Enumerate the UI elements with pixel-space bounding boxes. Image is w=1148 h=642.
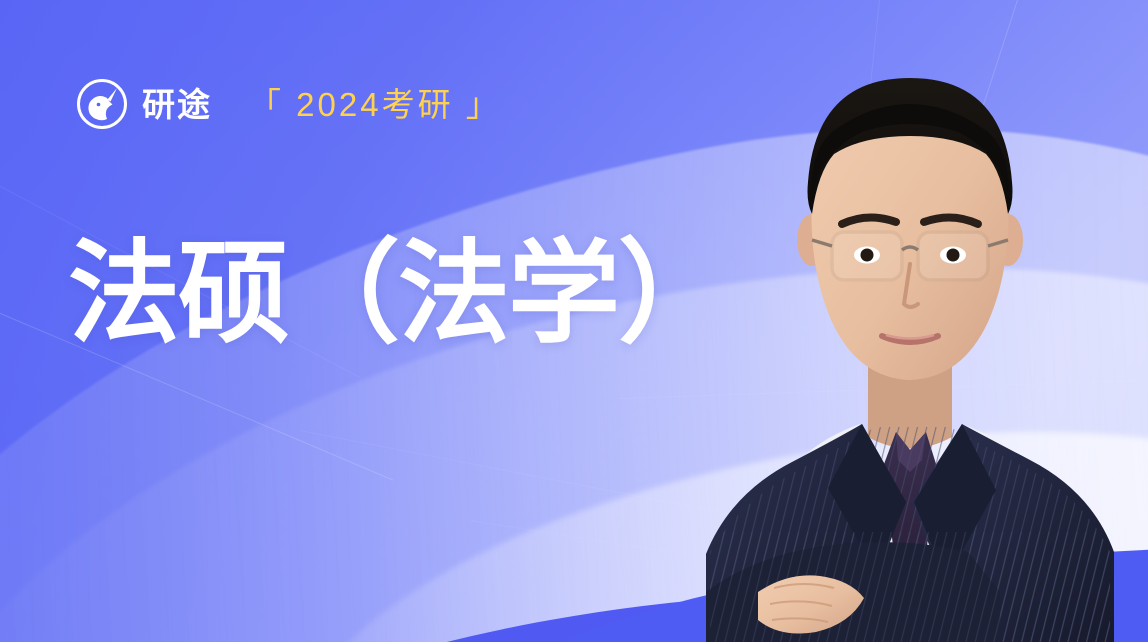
course-title: 法硕（法学） bbox=[68, 234, 728, 355]
brand-header: 研途 「 2024考研 」 bbox=[76, 78, 502, 130]
brand-name-label: 研途 bbox=[142, 88, 212, 121]
unicorn-circle-logo-icon bbox=[76, 78, 128, 130]
instructor-portrait-photo bbox=[700, 32, 1120, 642]
course-banner: 研途 「 2024考研 」 法硕（法学） bbox=[0, 0, 1148, 642]
exam-year-tag: 「 2024考研 」 bbox=[248, 88, 502, 121]
